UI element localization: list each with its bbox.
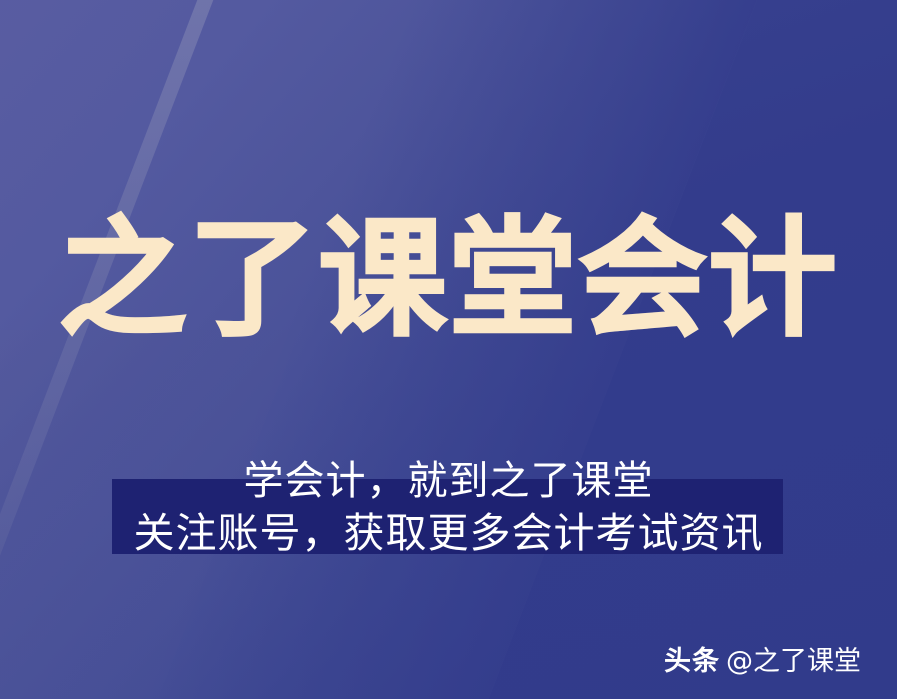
watermark: 头条@之了课堂 bbox=[664, 648, 861, 675]
poster-content: 之了课堂会计 学会计，就到之了课堂 关注账号，获取更多会计考试资讯 头条@之了课… bbox=[0, 0, 897, 699]
subtitle-line-1: 学会计，就到之了课堂 bbox=[0, 455, 897, 507]
subtitle-block: 学会计，就到之了课堂 关注账号，获取更多会计考试资讯 bbox=[0, 455, 897, 559]
poster-canvas: 之了课堂会计 学会计，就到之了课堂 关注账号，获取更多会计考试资讯 头条@之了课… bbox=[0, 0, 897, 699]
subtitle-line-2: 关注账号，获取更多会计考试资讯 bbox=[0, 507, 897, 559]
watermark-account-handle: @之了课堂 bbox=[726, 646, 861, 677]
watermark-platform-label: 头条 bbox=[664, 646, 720, 677]
headline-title: 之了课堂会计 bbox=[0, 216, 897, 344]
